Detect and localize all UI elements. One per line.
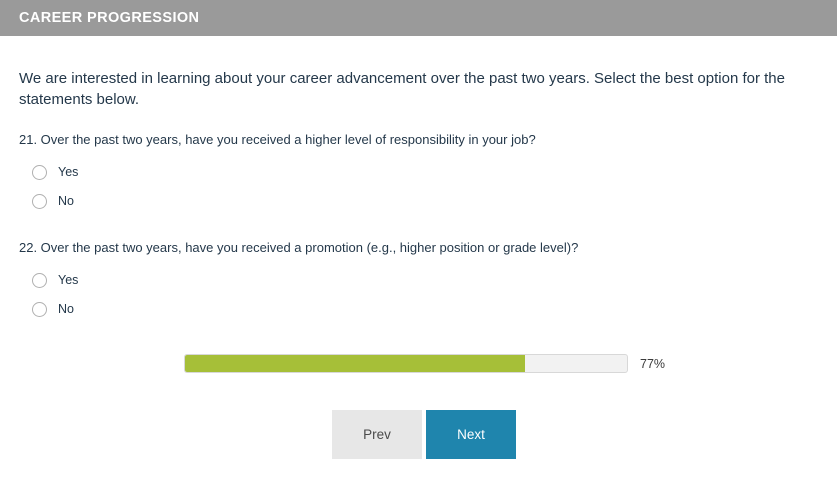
question-text-21: 21. Over the past two years, have you re…: [19, 131, 809, 149]
radio-circle-icon[interactable]: [32, 273, 47, 288]
progress-percent-label: 77%: [640, 357, 665, 371]
radio-label: No: [58, 302, 74, 317]
radio-circle-icon[interactable]: [32, 194, 47, 209]
question-block-21: 21. Over the past two years, have you re…: [19, 131, 809, 216]
radio-label: Yes: [58, 273, 78, 288]
radio-option-22-no[interactable]: No: [19, 295, 809, 324]
intro-text: We are interested in learning about your…: [19, 68, 825, 110]
radio-label: No: [58, 194, 74, 209]
section-header: CAREER PROGRESSION: [0, 0, 837, 36]
progress-track: [184, 354, 628, 373]
question-text-22: 22. Over the past two years, have you re…: [19, 239, 809, 257]
radio-option-21-no[interactable]: No: [19, 187, 809, 216]
radio-option-21-yes[interactable]: Yes: [19, 158, 809, 187]
radio-circle-icon[interactable]: [32, 302, 47, 317]
navigation-buttons: Prev Next: [332, 410, 516, 459]
page-title: CAREER PROGRESSION: [19, 10, 199, 26]
progress-bar: 77%: [184, 354, 665, 373]
next-button[interactable]: Next: [426, 410, 516, 459]
question-block-22: 22. Over the past two years, have you re…: [19, 239, 809, 324]
progress-fill: [185, 355, 525, 372]
radio-label: Yes: [58, 165, 78, 180]
radio-option-22-yes[interactable]: Yes: [19, 266, 809, 295]
prev-button[interactable]: Prev: [332, 410, 422, 459]
radio-circle-icon[interactable]: [32, 165, 47, 180]
